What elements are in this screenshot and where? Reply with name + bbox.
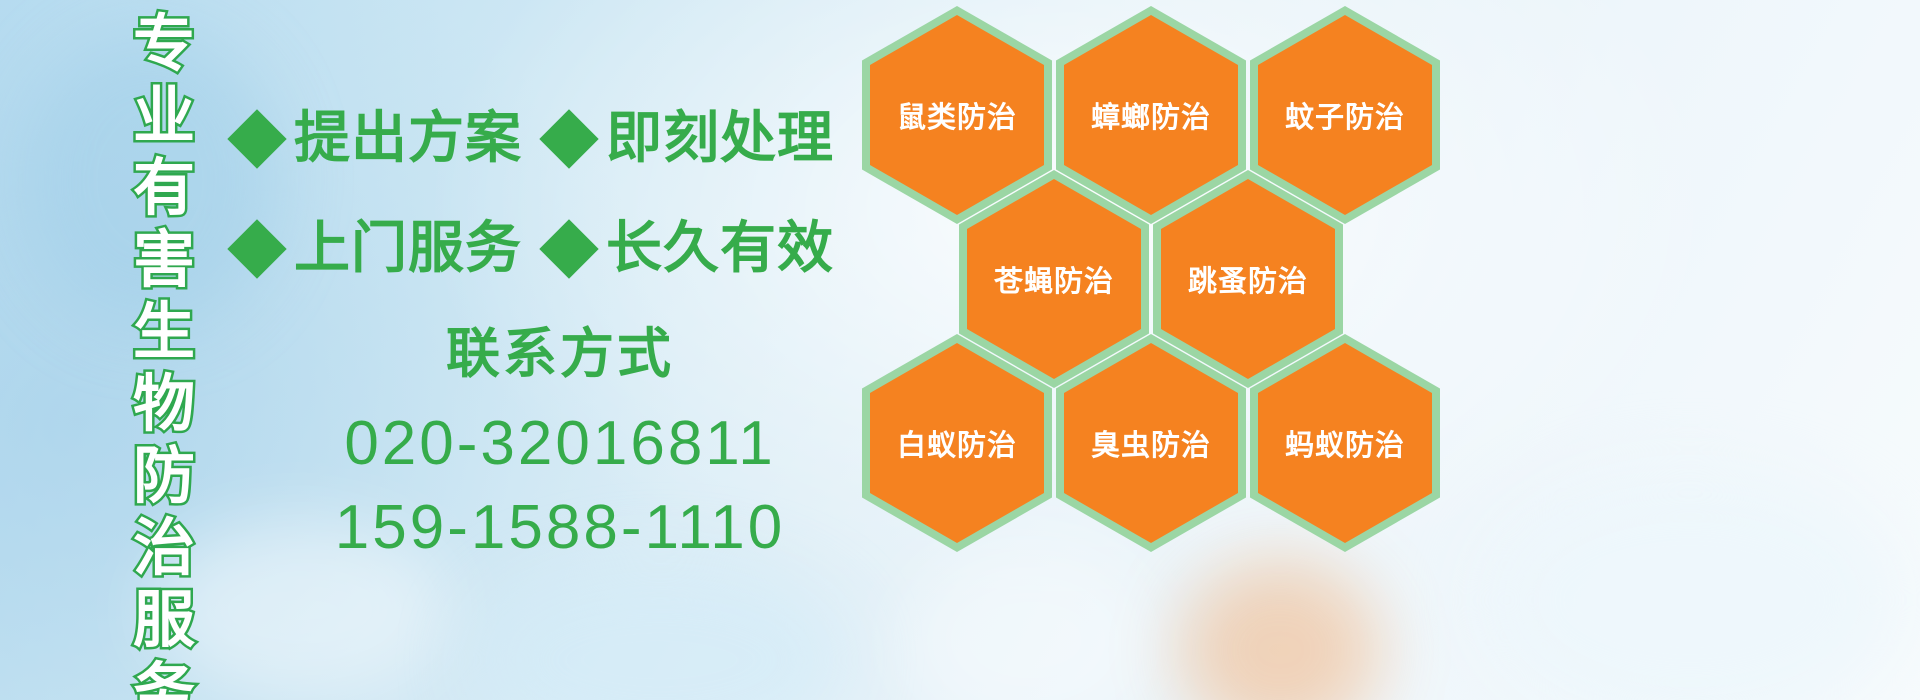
vertical-headline-char: 专 [133, 8, 195, 80]
diamond-icon [227, 219, 286, 278]
vertical-headline-char: 生 [133, 296, 195, 368]
vertical-headline-char: 物 [133, 368, 195, 440]
diamond-icon [539, 109, 598, 168]
feature-label: 即刻处理 [606, 108, 834, 170]
vertical-headline-char: 务 [133, 656, 195, 700]
feature-item: 上门服务 [236, 218, 522, 280]
feature-item: 提出方案 [236, 108, 522, 170]
phone-number-mobile[interactable]: 159-1588-1110 [250, 486, 870, 570]
feature-list: 提出方案 即刻处理 上门服务 长久有效 [236, 84, 876, 304]
feature-row: 提出方案 即刻处理 [236, 84, 876, 194]
vertical-headline-char: 服 [133, 584, 195, 656]
service-hex-label: 蚂蚁防治 [1285, 422, 1405, 464]
vertical-headline-char: 治 [133, 512, 195, 584]
promotional-banner: 专 业 有 害 生 物 防 治 服 务 提出方案 即刻处理 上门服务 [0, 0, 1920, 700]
diamond-icon [227, 109, 286, 168]
service-hex-label: 白蚁防治 [897, 422, 1017, 464]
vertical-headline-char: 有 [133, 152, 195, 224]
feature-item: 长久有效 [548, 218, 834, 280]
vertical-headline-char: 业 [133, 80, 195, 152]
service-hexagon-grid: 鼠类防治 蟑螂防治 蚊子防治 苍蝇防治 跳蚤防治 白蚁防治 臭虫防治 [862, 0, 1462, 556]
service-hex-label: 蚊子防治 [1285, 94, 1405, 136]
service-hex-label: 鼠类防治 [897, 94, 1017, 136]
background-bokeh-blob [1180, 560, 1380, 700]
background-bokeh-blob [470, 560, 850, 700]
background-bokeh-blob [1480, 470, 1900, 700]
vertical-headline-char: 防 [133, 440, 195, 512]
service-hex-label: 臭虫防治 [1091, 422, 1211, 464]
vertical-headline: 专 业 有 害 生 物 防 治 服 务 [108, 8, 220, 678]
diamond-icon [539, 219, 598, 278]
service-hex-label: 跳蚤防治 [1188, 258, 1308, 300]
phone-number-landline[interactable]: 020-32016811 [250, 402, 870, 486]
contact-block: 联系方式 020-32016811 159-1588-1110 [250, 318, 870, 570]
vertical-headline-char: 害 [133, 224, 195, 296]
feature-label: 长久有效 [606, 218, 834, 280]
feature-label: 上门服务 [294, 218, 522, 280]
feature-item: 即刻处理 [548, 108, 834, 170]
contact-title: 联系方式 [250, 318, 870, 390]
service-hex-label: 蟑螂防治 [1091, 94, 1211, 136]
background-bokeh-blob [900, 540, 1160, 700]
feature-label: 提出方案 [294, 108, 522, 170]
service-hex-label: 苍蝇防治 [994, 258, 1114, 300]
feature-row: 上门服务 长久有效 [236, 194, 876, 304]
